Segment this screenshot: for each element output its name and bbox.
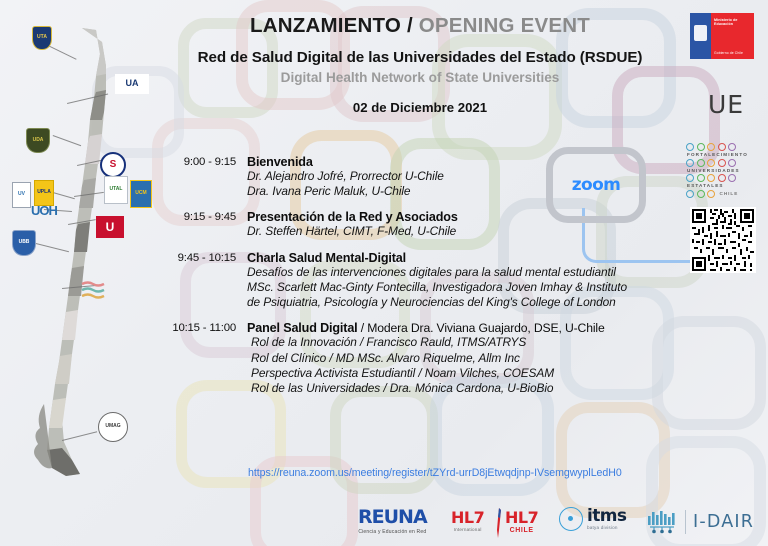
schedule-speaker-line: de Psiquiatria, Psicología y Neurocienci… [247,295,627,310]
itms-wordmark: itms [587,508,626,525]
fortalecimiento-dot-icon [707,174,715,182]
ministerio-educacion-logo: Ministerio de Educación Gobierno de Chil… [690,13,754,59]
fortalecimiento-dot-icon [686,190,694,198]
university-logo-umag: UMAG [98,412,128,442]
schedule-time: 9:45 - 10:15 [150,251,236,311]
schedule-title: Panel Salud Digital / Modera Dra. Vivian… [247,321,605,335]
schedule-time: 9:00 - 9:15 [150,155,236,199]
fortalecimiento-country: CHILE [720,191,739,196]
fortalecimiento-label: UNIVERSIDADES [687,168,762,173]
university-logo-uoh: UOH [22,202,66,220]
ue-logo: UE [700,84,752,124]
schedule-row: 9:00 - 9:15BienvenidaDr. Alejandro Jofré… [150,155,710,199]
fortalecimiento-dot-icon [697,159,705,167]
ministry-text1: Ministerio de [714,18,737,22]
schedule-row: 10:15 - 11:00Panel Salud Digital / Moder… [150,321,710,396]
university-logo-uta: UTA [32,26,52,50]
fortalecimiento-dot-row [686,143,762,151]
ministry-footer: Gobierno de Chile [714,51,743,55]
schedule-title-rest: / Modera Dra. Viviana Guajardo, DSE, U-C… [358,321,605,335]
fortalecimiento-dot-icon [718,143,726,151]
schedule-speaker-line: Rol de las Universidades / Dra. Mónica C… [247,381,605,396]
fortalecimiento-dot-icon [707,190,715,198]
fortalecimiento-dot-row: CHILE [686,190,762,198]
fortalecimiento-dot-icon [697,174,705,182]
qr-code[interactable] [690,207,756,273]
university-logo-utem: U [96,216,124,238]
fortalecimiento-dot-icon [707,143,715,151]
fortalecimiento-dot-icon [697,143,705,151]
schedule-title: Bienvenida [247,155,444,169]
hl7-chile-wordmark: HL7 [505,508,538,527]
schedule-speaker-line: Rol de la Innovación / Francisco Rauld, … [247,335,605,350]
fortalecimiento-dot-icon [686,174,694,182]
university-logo-ucm: UCM [130,180,152,208]
university-logo-ubb: UBB [12,230,36,256]
fortalecimiento-logo: FORTALECIMIENTOUNIVERSIDADESESTATALESCHI… [686,143,762,199]
ministry-line1: Ministerio de Educación [714,18,737,27]
poster-canvas: UTA UA UDA S UV UPLA UTAL UCM UOH U UBB [0,0,768,546]
fortalecimiento-dot-icon [718,174,726,182]
idair-network-icon [646,510,678,534]
registration-link[interactable]: https://reuna.zoom.us/meeting/register/t… [248,467,718,479]
footer-logos: REUNA Ciencia y Educación en Red HL7 Int… [0,498,768,546]
fortalecimiento-dot-icon [728,174,736,182]
fortalecimiento-dot-icon [718,159,726,167]
stripes-icon [80,280,106,300]
university-logo-stripes [80,280,106,305]
ministry-flag-red: Ministerio de Educación Gobierno de Chil… [711,13,754,59]
schedule-title: Charla Salud Mental-Digital [247,251,627,265]
fortalecimiento-dot-row [686,174,762,182]
schedule-speaker-line: Dr. Steffen Härtel, CIMT, F-Med, U-Chile [247,224,458,239]
itms-swirl-icon [559,507,583,531]
schedule-title: Presentación de la Red y Asociados [247,210,458,224]
schedule-list: 9:00 - 9:15BienvenidaDr. Alejandro Jofré… [150,155,710,407]
itms-logo: itms batya division [559,507,626,531]
title-en: OPENING EVENT [419,14,590,37]
schedule-body: BienvenidaDr. Alejandro Jofré, Prorrecto… [236,155,444,199]
fortalecimiento-label: FORTALECIMIENTO [687,152,762,157]
schedule-speaker-line: Rol del Clínico / MD MSc. Alvaro Riquelm… [247,351,605,366]
schedule-row: 9:15 - 9:45Presentación de la Red y Asoc… [150,210,710,239]
schedule-speaker-line: MSc. Scarlett Mac-Ginty Fontecilla, Inve… [247,280,627,295]
fortalecimiento-dot-row [686,159,762,167]
hl7-intl-tagline: International [451,527,484,532]
fortalecimiento-dot-icon [707,159,715,167]
fortalecimiento-dot-icon [697,190,705,198]
hl7-chile-logo: HL7 CHILE [505,508,538,534]
schedule-time: 9:15 - 9:45 [150,210,236,239]
reuna-logo: REUNA Ciencia y Educación en Red [358,506,427,535]
schedule-speaker-line: Desafíos de las intervenciones digitales… [247,265,627,280]
university-logo-ua: UA [115,74,149,94]
title-separator: / [401,14,419,37]
schedule-body: Panel Salud Digital / Modera Dra. Vivian… [236,321,605,396]
reuna-tagline: Ciencia y Educación en Red [358,529,427,535]
event-date: 02 de Diciembre 2021 [160,100,680,115]
university-logo-utal: UTAL [104,176,128,204]
schedule-body: Presentación de la Red y AsociadosDr. St… [236,210,458,239]
idair-divider [685,510,686,534]
poster-header: LANZAMIENTO / OPENING EVENT Red de Salud… [160,0,680,115]
schedule-time: 10:15 - 11:00 [150,321,236,396]
title-es: LANZAMIENTO [250,14,401,37]
network-title-en: Digital Health Network of State Universi… [160,70,680,85]
hl7-international-logo: HL7 International [451,508,484,532]
university-logo-uda: UDA [26,128,50,153]
chile-coat-of-arms-icon [694,25,707,41]
schedule-row: 9:45 - 10:15Charla Salud Mental-DigitalD… [150,251,710,311]
schedule-speaker-line: Perspectiva Activista Estudiantil / Noam… [247,366,605,381]
hl7-intl-wordmark: HL7 [451,508,484,527]
schedule-body: Charla Salud Mental-DigitalDesafíos de l… [236,251,627,311]
fortalecimiento-dot-icon [728,159,736,167]
network-title-es: Red de Salud Digital de las Universidade… [160,49,680,66]
hl7-chile-tagline: CHILE [505,527,538,534]
university-logo-usach: S [100,152,126,178]
i-dair-logo: I-DAIR [646,510,754,534]
reuna-wordmark: REUNA [358,506,427,528]
fortalecimiento-dot-icon [686,159,694,167]
fortalecimiento-dot-icon [686,143,694,151]
idair-wordmark: I-DAIR [693,512,754,532]
page-title: LANZAMIENTO / OPENING EVENT [160,14,680,38]
schedule-speaker-line: Dra. Ivana Peric Maluk, U-Chile [247,184,444,199]
fortalecimiento-label: ESTATALES [687,183,762,188]
schedule-speaker-line: Dr. Alejandro Jofré, Prorrector U-Chile [247,169,444,184]
chile-shape-icon [496,508,503,538]
ministry-text2: Educación [714,22,733,26]
fortalecimiento-dot-icon [728,143,736,151]
chile-map-panel: UTA UA UDA S UV UPLA UTAL UCM UOH U UBB [0,0,160,546]
